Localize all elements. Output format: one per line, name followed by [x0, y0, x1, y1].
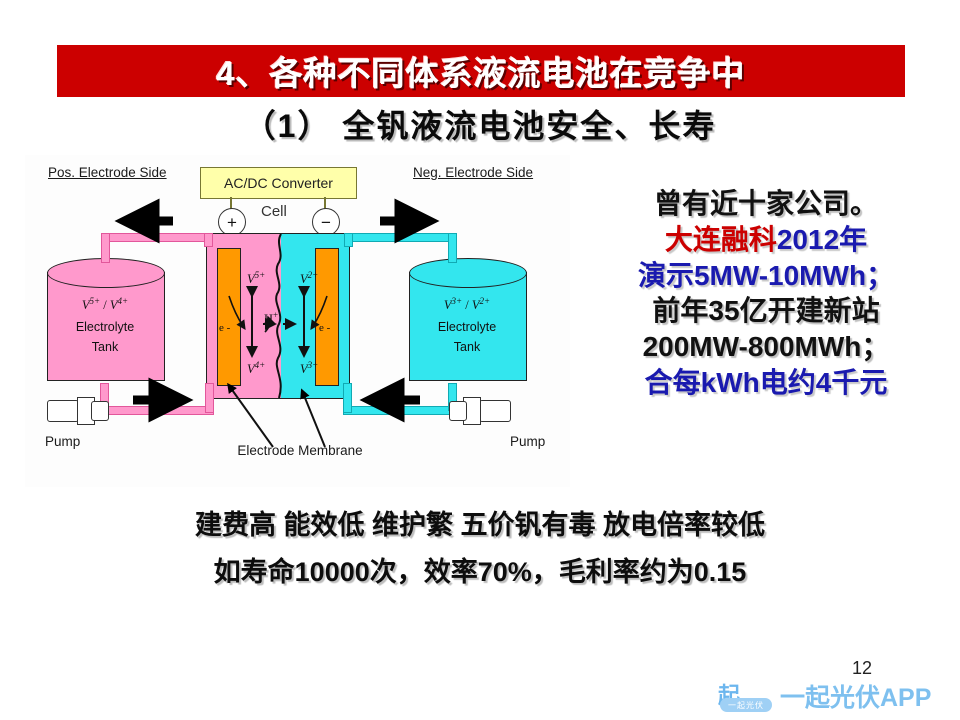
slide-root: 4、各种不同体系液流电池在竞争中 （1） 全钒液流电池安全、长寿 Pos. El… [0, 0, 960, 720]
flow-arrows-icon [25, 155, 570, 487]
page-subtitle: （1） 全钒液流电池安全、长寿 [0, 101, 960, 147]
year-highlight: 2012年 [777, 224, 867, 255]
page-title: 4、各种不同体系液流电池在竞争中 [216, 47, 745, 95]
page-number: 12 [852, 658, 872, 679]
bottom-text-line-1: 建费高 能效低 维护繁 五价钒有毒 放电倍率较低 [0, 503, 960, 542]
company-name-highlight: 大连融科 [665, 224, 777, 255]
right-text-line-6: 合每kWh电约4千元 [575, 365, 957, 401]
right-text-block: 曾有近十家公司。 大连融科2012年 演示5MW-10MWh； 前年35亿开建新… [575, 186, 957, 401]
bottom-text-line-2: 如寿命10000次，效率70%，毛利率约为0.15 [0, 550, 960, 589]
watermark-logo-icon: 起 一起光伏 [718, 678, 774, 714]
watermark: 起 一起光伏 一起光伏APP [718, 678, 931, 714]
right-text-line-1: 曾有近十家公司。 [575, 186, 957, 222]
right-text-line-2: 大连融科2012年 [575, 222, 957, 258]
right-text-line-5: 200MW-800MWh； [575, 329, 957, 365]
vanadium-flow-battery-diagram: Pos. Electrode Side Neg. Electrode Side … [25, 155, 570, 487]
right-text-line-3: 演示5MW-10MWh； [575, 258, 957, 294]
title-bar: 4、各种不同体系液流电池在竞争中 [57, 45, 905, 97]
watermark-badge: 一起光伏 [720, 698, 772, 712]
watermark-text: 一起光伏APP [780, 678, 931, 714]
right-text-line-4: 前年35亿开建新站 [575, 293, 957, 329]
membrane-label: Electrode Membrane [200, 443, 400, 458]
